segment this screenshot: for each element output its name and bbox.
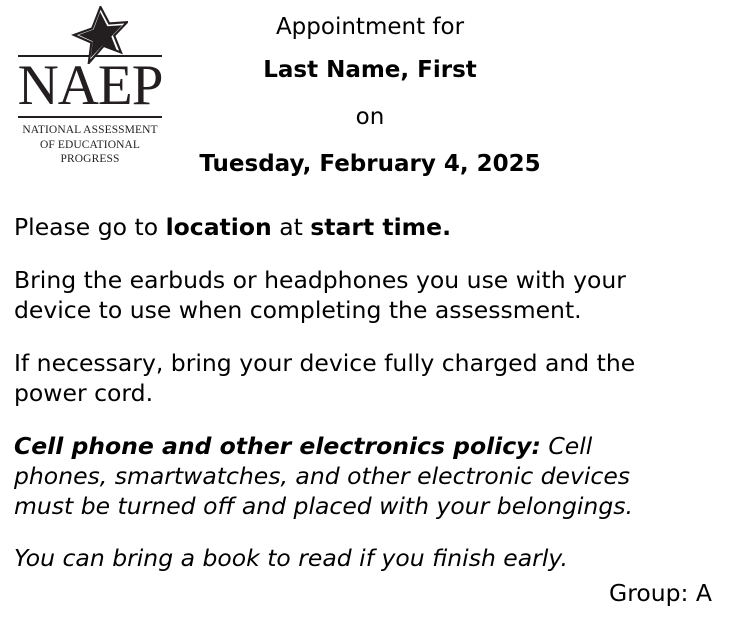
appointment-for-label: Appointment for [0,10,740,44]
heading-spacer [0,87,740,100]
group-label: Group: A [609,578,712,608]
heading-spacer [0,44,740,53]
appointment-date: Tuesday, February 4, 2025 [0,147,740,181]
electronics-policy: Cell phone and other electronics policy:… [14,431,690,521]
earbuds-instruction: Bring the earbuds or headphones you use … [14,265,664,325]
start-time-value: start time. [310,213,451,241]
on-label: on [0,100,740,134]
location-middle-text: at [272,213,311,241]
location-prefix-text: Please go to [14,213,166,241]
location-value: location [166,213,272,241]
location-instruction: Please go to location at start time. [14,212,664,242]
header-zone: NAEP NATIONAL ASSESSMENT OF EDUCATIONAL … [0,0,740,210]
appointment-heading: Appointment for Last Name, First on Tues… [0,10,740,181]
heading-spacer [0,134,740,147]
book-note: You can bring a book to read if you fini… [14,543,664,573]
electronics-policy-label: Cell phone and other electronics policy: [14,432,541,460]
student-name: Last Name, First [0,53,740,87]
appointment-card: NAEP NATIONAL ASSESSMENT OF EDUCATIONAL … [0,0,740,632]
charge-instruction: If necessary, bring your device fully ch… [14,348,664,408]
body-zone: Please go to location at start time. Bri… [14,212,720,573]
